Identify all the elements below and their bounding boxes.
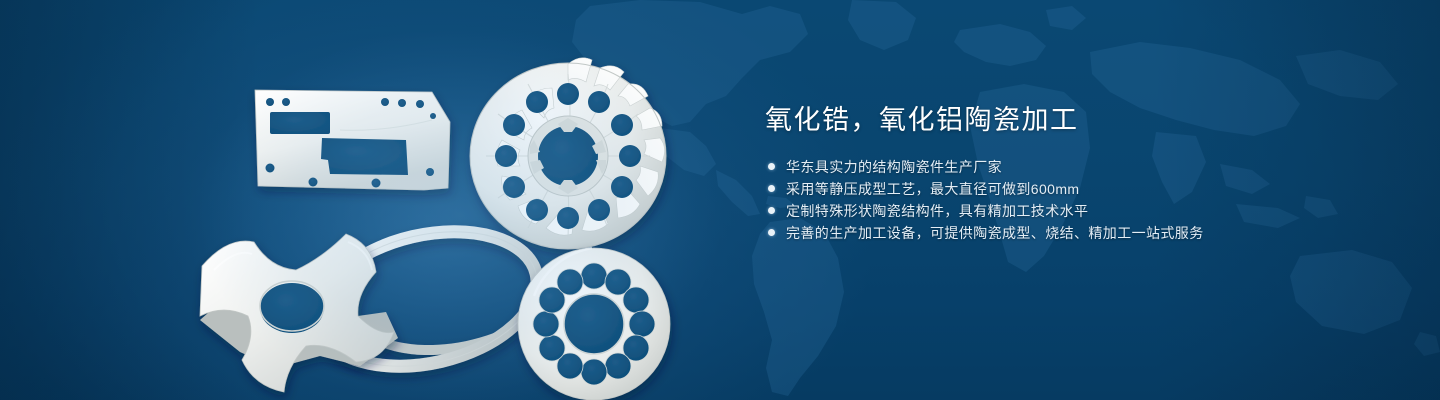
banner-headline: 氧化锆，氧化铝陶瓷加工 [765, 104, 1385, 136]
banner-text-block: 氧化锆，氧化铝陶瓷加工 华东具实力的结构陶瓷件生产厂家 采用等静压成型工艺，最大… [765, 104, 1385, 244]
product-image-cluster [180, 20, 740, 400]
hero-banner: 氧化锆，氧化铝陶瓷加工 华东具实力的结构陶瓷件生产厂家 采用等静压成型工艺，最大… [0, 0, 1440, 400]
product-ceramic-impeller [470, 58, 666, 249]
product-ceramic-perforated-disc [518, 248, 670, 400]
list-item: 定制特殊形状陶瓷结构件，具有精加工技术水平 [765, 200, 1385, 221]
feature-text: 定制特殊形状陶瓷结构件，具有精加工技术水平 [786, 201, 1088, 221]
bullet-dot-icon [768, 207, 775, 214]
banner-feature-list: 华东具实力的结构陶瓷件生产厂家 采用等静压成型工艺，最大直径可做到600mm 定… [765, 156, 1385, 243]
feature-text: 采用等静压成型工艺，最大直径可做到600mm [786, 179, 1079, 199]
list-item: 华东具实力的结构陶瓷件生产厂家 [765, 156, 1385, 177]
bullet-dot-icon [768, 185, 775, 192]
list-item: 完善的生产加工设备，可提供陶瓷成型、烧结、精加工一站式服务 [765, 222, 1385, 243]
product-ceramic-plate [255, 90, 450, 190]
list-item: 采用等静压成型工艺，最大直径可做到600mm [765, 178, 1385, 199]
feature-text: 华东具实力的结构陶瓷件生产厂家 [786, 157, 1002, 177]
bullet-dot-icon [768, 229, 775, 236]
bullet-dot-icon [768, 163, 775, 170]
feature-text: 完善的生产加工设备，可提供陶瓷成型、烧结、精加工一站式服务 [786, 223, 1204, 243]
